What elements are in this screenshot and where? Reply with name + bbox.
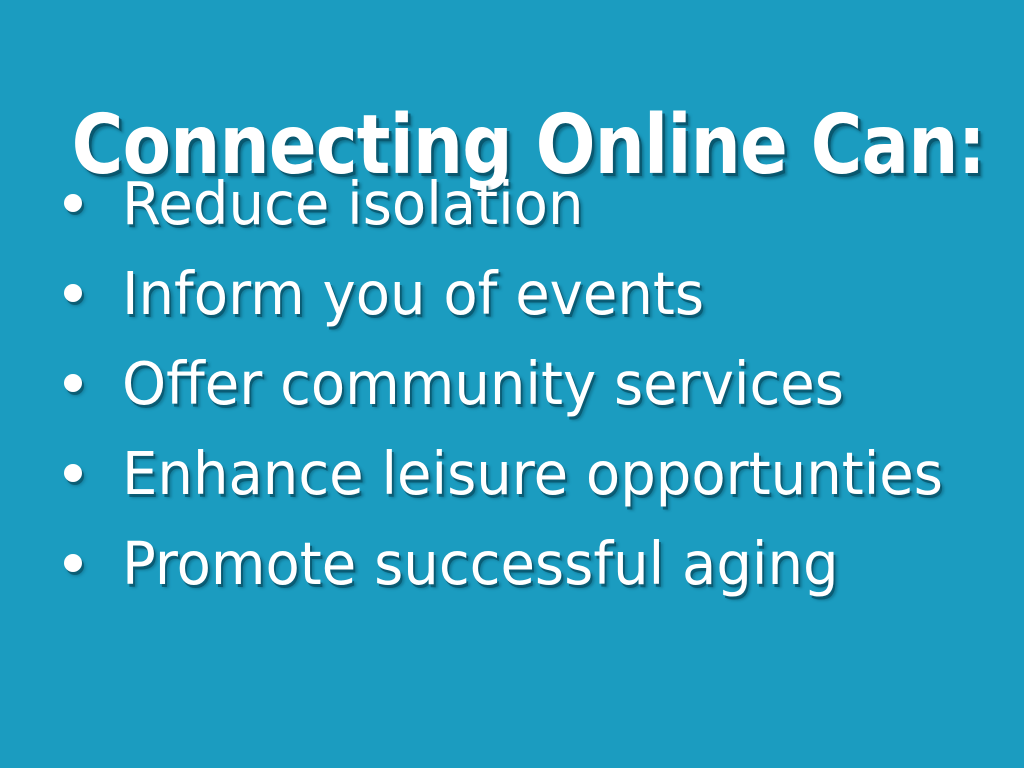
bullet-text: Enhance leisure opportunties	[122, 444, 964, 503]
presentation-slide: Connecting Online Can: Reduce isolation …	[0, 0, 1024, 768]
bullet-dot-icon	[64, 554, 82, 572]
bullet-text: Offer community services	[122, 354, 964, 413]
bullet-dot-icon	[64, 284, 82, 302]
bullet-dot-icon	[64, 464, 82, 482]
list-item: Offer community services	[58, 338, 1008, 428]
bullet-dot-icon	[64, 374, 82, 392]
bullet-list: Reduce isolation Inform you of events Of…	[58, 158, 1008, 608]
bullet-text: Promote successful aging	[122, 534, 964, 593]
list-item: Reduce isolation	[58, 158, 1008, 248]
bullet-dot-icon	[64, 194, 82, 212]
bullet-text: Inform you of events	[122, 264, 964, 323]
list-item: Promote successful aging	[58, 518, 1008, 608]
bullet-text: Reduce isolation	[122, 174, 964, 233]
list-item: Inform you of events	[58, 248, 1008, 338]
list-item: Enhance leisure opportunties	[58, 428, 1008, 518]
